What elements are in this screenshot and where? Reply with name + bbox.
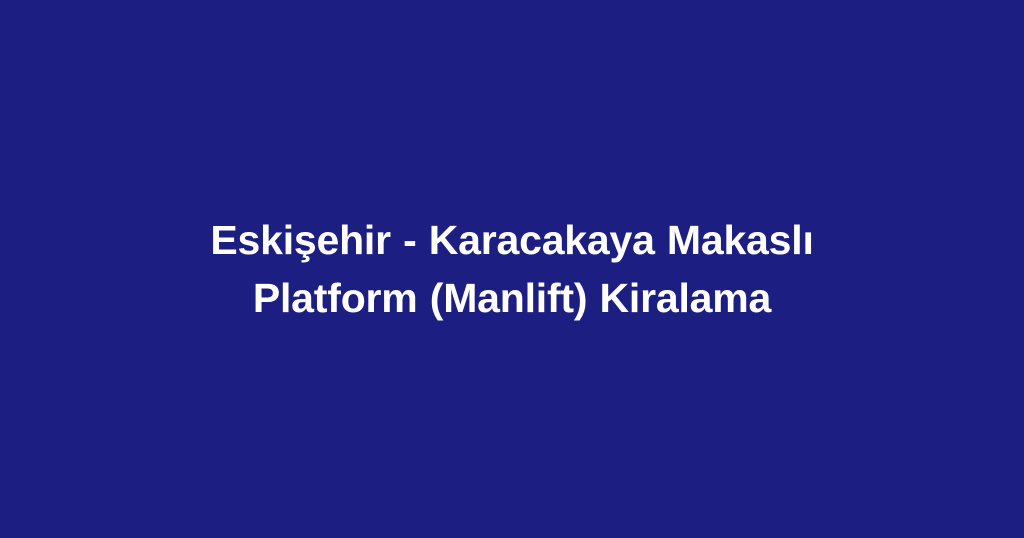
banner-headline: Eskişehir - Karacakaya Makaslı Platform … <box>210 211 813 327</box>
banner-content: Eskişehir - Karacakaya Makaslı Platform … <box>0 211 1024 327</box>
headline-line-2: Platform (Manlift) Kiralama <box>210 269 813 327</box>
promo-banner: Eskişehir - Karacakaya Makaslı Platform … <box>0 0 1024 538</box>
headline-line-1: Eskişehir - Karacakaya Makaslı <box>210 211 813 269</box>
